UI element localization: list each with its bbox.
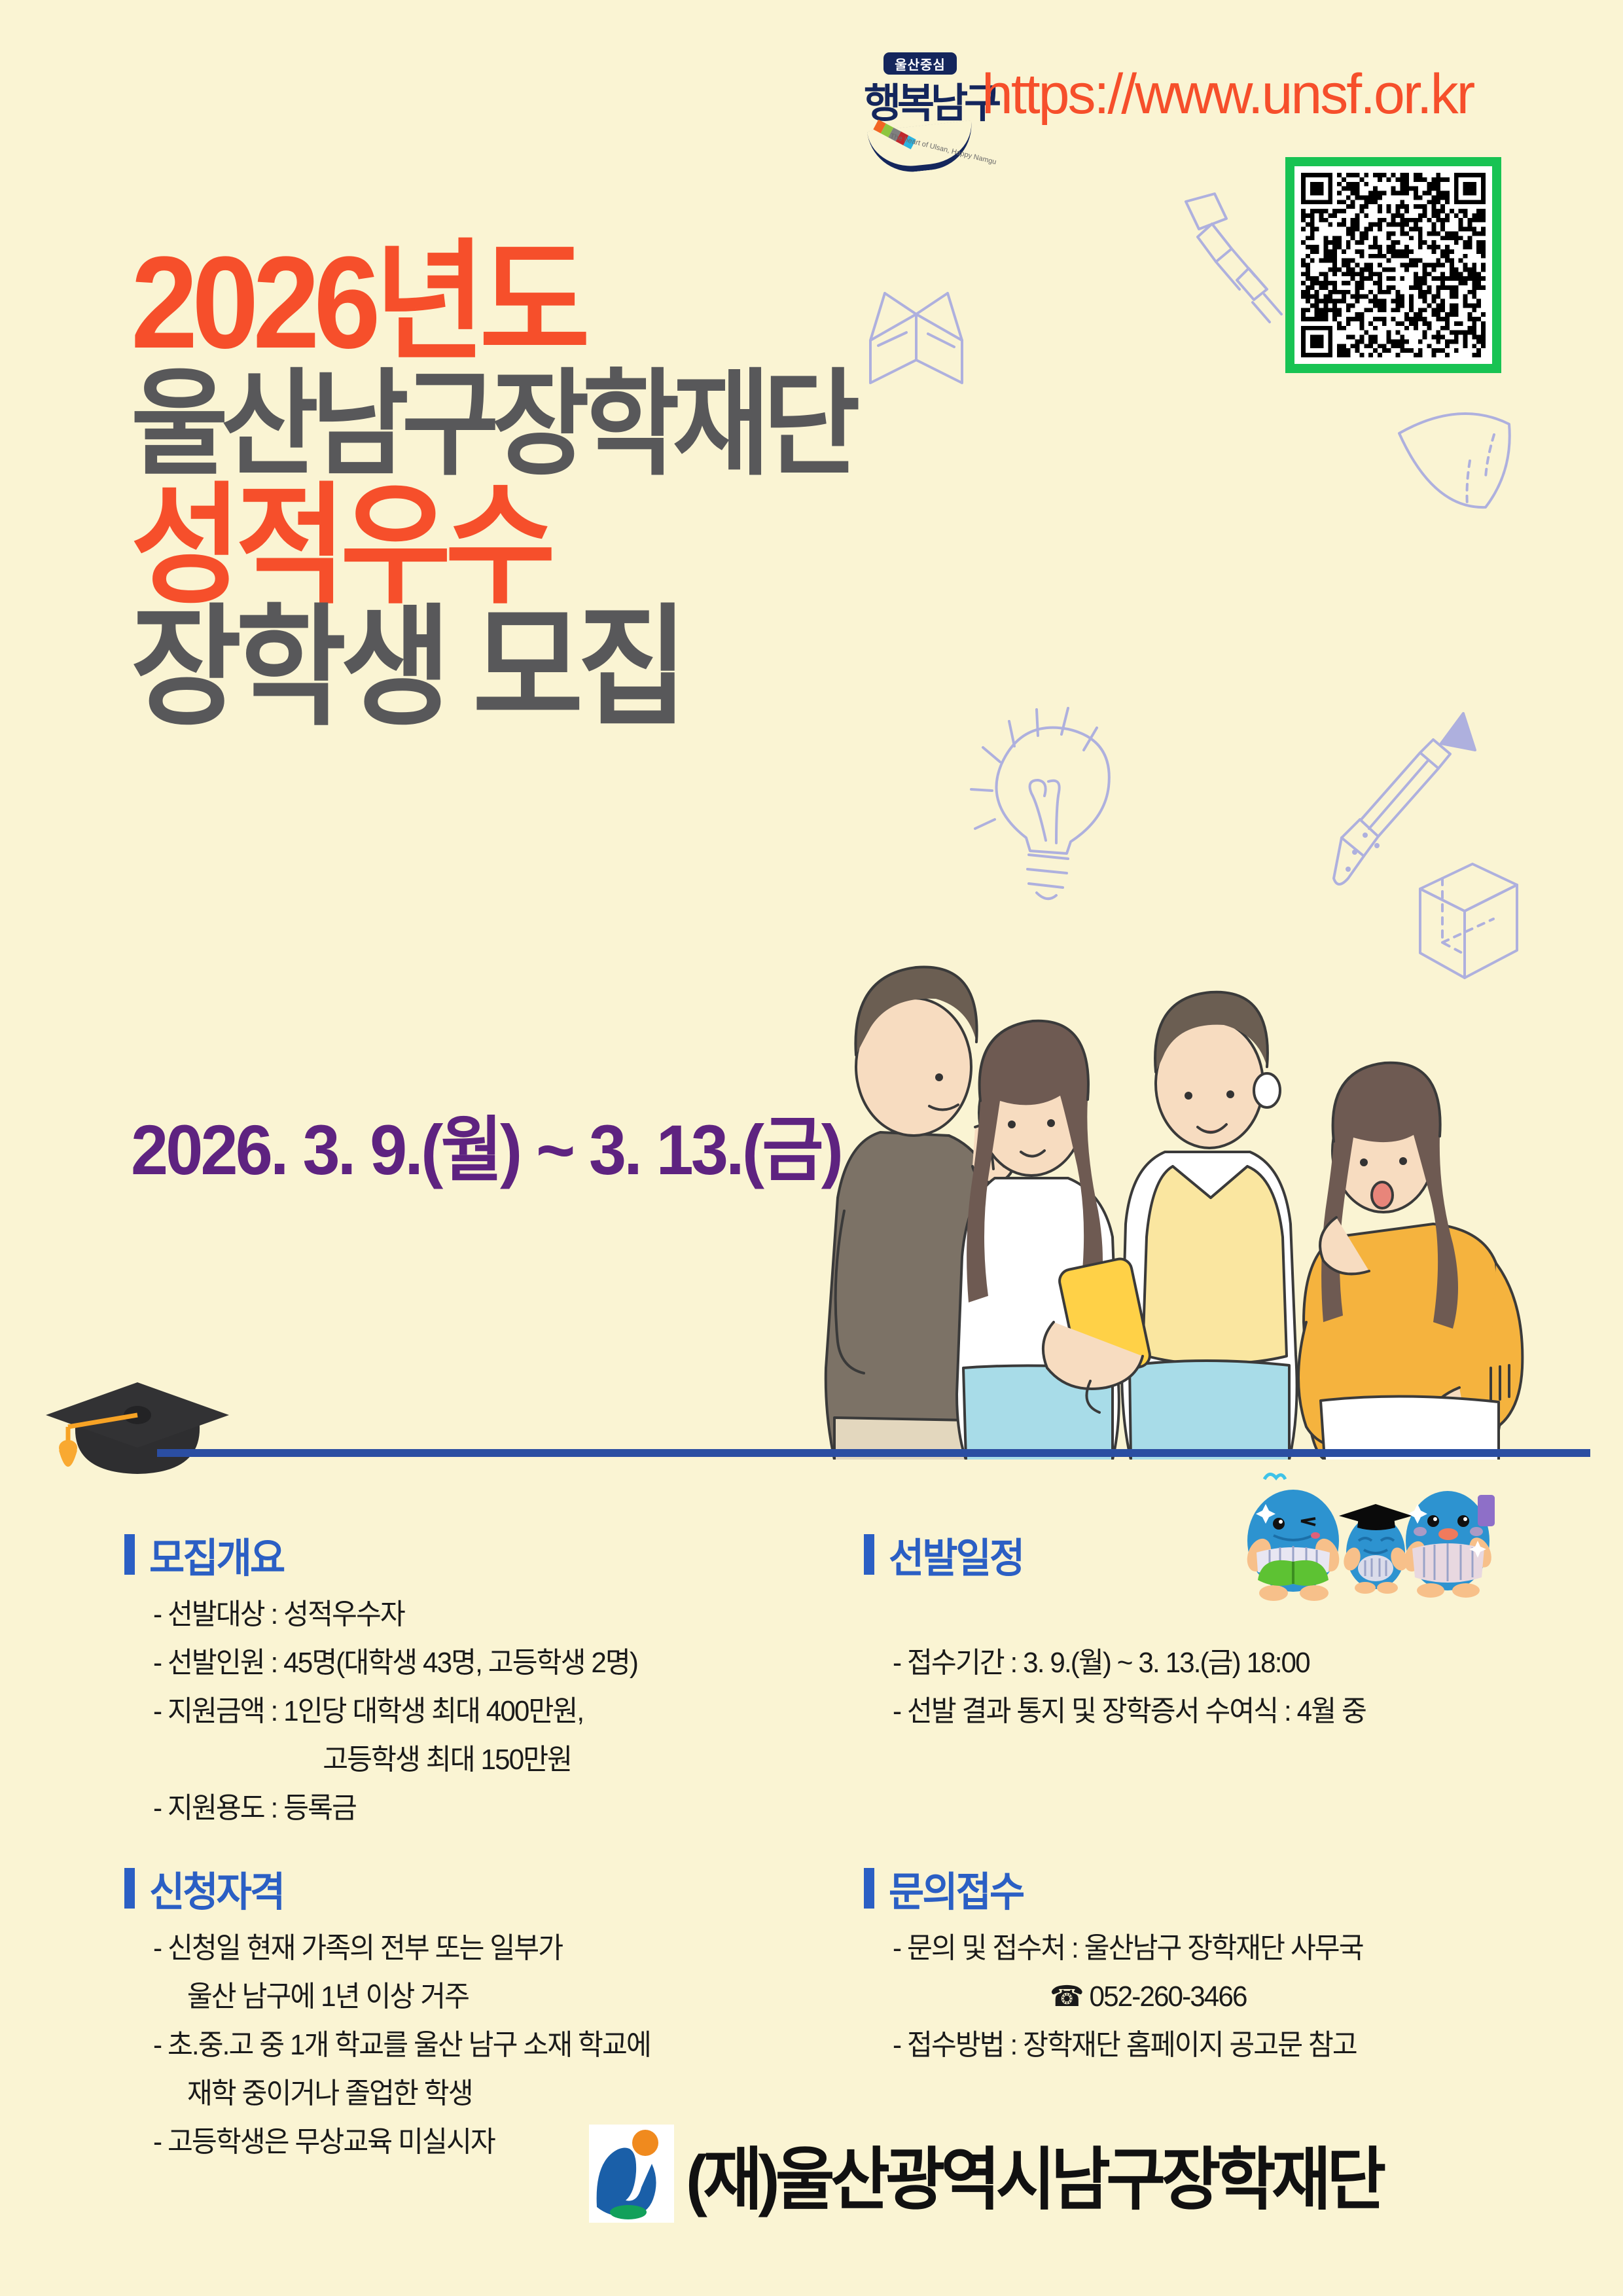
info-line: 울산 남구에 1년 이상 거주 (153, 1973, 848, 2021)
telescope-icon (1171, 190, 1322, 340)
info-line: - 지원금액 : 1인당 대학생 최대 400만원, (153, 1687, 848, 1736)
section-title: 문의접수 (889, 1859, 1023, 1918)
footer-organization: (재)울산광역시남구장학재단 (589, 2124, 1418, 2223)
section-title: 모집개요 (149, 1525, 283, 1584)
info-line: - 접수방법 : 장학재단 홈페이지 공고문 참고 (893, 2021, 1569, 2070)
application-period: 2026. 3. 9.(월) ~ 3. 13.(금) (131, 1093, 841, 1195)
title-line-foundation: 울산남구장학재단 (131, 364, 853, 486)
info-line: 재학 중이거나 졸업한 학생 (153, 2070, 848, 2118)
page-title: 2026년도 울산남구장학재단 성적우수 장학생 모집 (131, 242, 916, 729)
section-accent-bar (124, 1534, 135, 1575)
info-line: - 문의 및 접수처 : 울산남구 장학재단 사무국 (893, 1924, 1569, 1973)
section-accent-bar (864, 1534, 874, 1575)
section-header: 문의접수 (864, 1859, 1597, 1918)
namgu-logo: 울산중심 행복남구 The heart of Ulsan, Happy Namg… (864, 52, 975, 164)
section-accent-bar (864, 1868, 874, 1909)
section-body: - 문의 및 접수처 : 울산남구 장학재단 사무국 ☎ 052-260-346… (864, 1924, 1597, 2070)
graduation-cap-icon (39, 1374, 236, 1486)
section-selection-schedule: 선발일정 - 접수기간 : 3. 9.(월) ~ 3. 13.(금) 18:00… (864, 1525, 1597, 1736)
info-line: - 초.중.고 중 1개 학교를 울산 남구 소재 학교에 (153, 2021, 848, 2070)
section-accent-bar (124, 1868, 135, 1909)
info-line: - 선발대상 : 성적우수자 (153, 1590, 848, 1639)
section-contact: 문의접수 - 문의 및 접수처 : 울산남구 장학재단 사무국 ☎ 052-26… (864, 1859, 1597, 2070)
info-line: 고등학생 최대 150만원 (153, 1736, 848, 1784)
info-line: - 접수기간 : 3. 9.(월) ~ 3. 13.(금) 18:00 (893, 1639, 1569, 1687)
section-header: 신청자격 (124, 1859, 877, 1918)
logo-badge-text: 울산중심 (883, 52, 957, 75)
section-title: 신청자격 (149, 1859, 283, 1918)
foundation-logo-mark (589, 2125, 674, 2223)
poster-root: 울산중심 행복남구 The heart of Ulsan, Happy Namg… (0, 0, 1623, 2296)
section-recruitment-outline: 모집개요 - 선발대상 : 성적우수자 - 선발인원 : 45명(대학생 43명… (124, 1525, 877, 1833)
info-line: - 선발 결과 통지 및 장학증서 수여식 : 4월 중 (893, 1687, 1569, 1736)
foundation-name: (재)울산광역시남구장학재단 (686, 2124, 1382, 2223)
title-line-excellence: 성적우수 (131, 486, 853, 607)
info-line: - 지원용도 : 등록금 (153, 1784, 848, 1833)
cone-icon (1387, 393, 1525, 517)
phone-number[interactable]: ☎ 052-260-3466 (893, 1973, 1569, 2021)
section-divider (157, 1449, 1590, 1457)
info-line: - 신청일 현재 가족의 전부 또는 일부가 (153, 1924, 848, 1973)
section-body: - 선발대상 : 성적우수자 - 선발인원 : 45명(대학생 43명, 고등학… (124, 1590, 877, 1833)
section-body: - 접수기간 : 3. 9.(월) ~ 3. 13.(금) 18:00 - 선발… (864, 1590, 1597, 1736)
section-title: 선발일정 (889, 1525, 1023, 1584)
section-header: 선발일정 (864, 1525, 1597, 1584)
students-illustration (772, 870, 1623, 1460)
section-eligibility: 신청자격 - 신청일 현재 가족의 전부 또는 일부가 울산 남구에 1년 이상… (124, 1859, 877, 2166)
website-url[interactable]: https://www.unsf.or.kr (982, 62, 1473, 127)
title-line-year: 2026년도 (131, 242, 853, 364)
title-line-recruit: 장학생 모집 (131, 607, 853, 729)
info-line: - 선발인원 : 45명(대학생 43명, 고등학생 2명) (153, 1639, 848, 1687)
section-header: 모집개요 (124, 1525, 877, 1584)
